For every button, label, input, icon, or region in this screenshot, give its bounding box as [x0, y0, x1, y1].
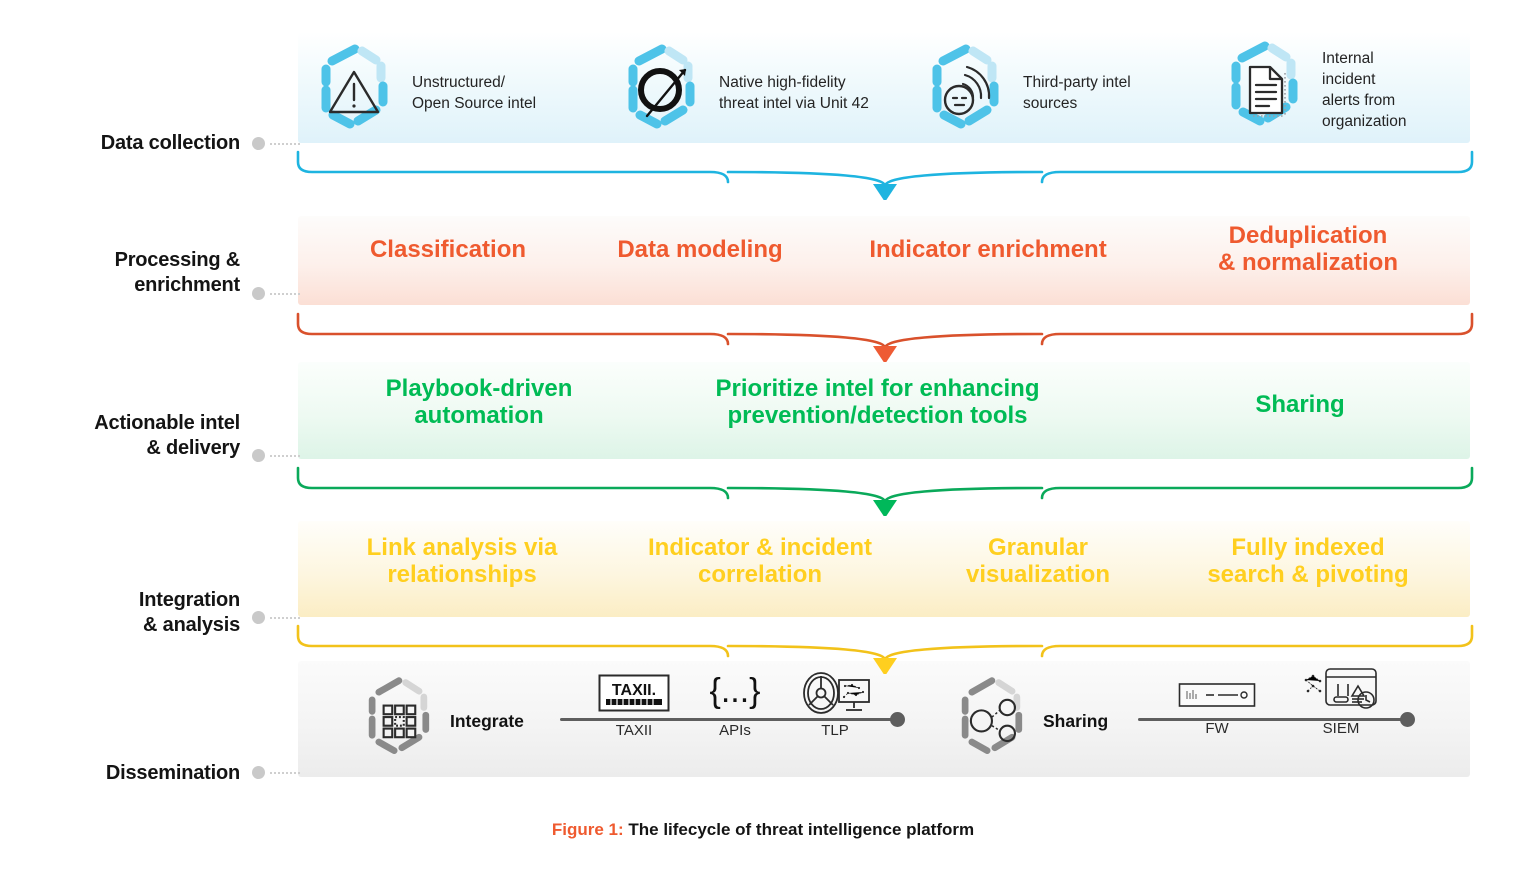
source-item-third-party[interactable]: Third-party intel sources: [917, 42, 1131, 143]
grid-hexagon-icon: [352, 673, 444, 770]
phrase-link-analysis: Link analysis via relationships: [322, 534, 602, 589]
stage-dot-integration: [252, 611, 265, 624]
rail-item-taxii[interactable]: TAXII. TAXII: [594, 674, 674, 717]
api-braces-icon: {...}: [697, 670, 773, 714]
svg-text:TAXII.: TAXII.: [612, 682, 656, 699]
rail-caption-taxii: TAXII: [594, 722, 674, 739]
rail-caption-tlp: TLP: [795, 722, 875, 739]
dissemination-group-integrate[interactable]: Integrate: [352, 673, 524, 770]
phrase-indicator-enrichment: Indicator enrichment: [838, 236, 1138, 263]
phrase-data-modeling: Data modeling: [584, 236, 816, 263]
connector-brace-orange: [290, 306, 1480, 362]
figure-caption-prefix: Figure 1:: [552, 820, 624, 839]
diagram-canvas: Data collection Processing & enrichment …: [0, 0, 1526, 872]
stage-label-data-collection: Data collection: [20, 131, 240, 156]
siem-icon: [1300, 666, 1382, 714]
dissemination-label-sharing: Sharing: [1043, 711, 1108, 732]
stage-label-dissemination: Dissemination: [20, 761, 240, 786]
phrase-granular-visualization: Granular visualization: [925, 534, 1151, 589]
source-item-unstructured[interactable]: Unstructured/ Open Source intel: [306, 42, 536, 143]
stage-connector-processing: [270, 293, 300, 295]
stage-label-actionable-intel: Actionable intel & delivery: [20, 411, 240, 461]
tlp-wheel-monitor-icon: [795, 670, 875, 716]
phrase-fully-indexed-search: Fully indexed search & pivoting: [1162, 534, 1454, 589]
connector-brace-blue: [290, 144, 1480, 200]
phrase-playbook-automation: Playbook-driven automation: [334, 375, 624, 430]
rail-item-fw[interactable]: FW: [1178, 682, 1256, 717]
phrase-sharing: Sharing: [1165, 391, 1435, 418]
rail-caption-fw: FW: [1178, 720, 1256, 737]
network-hexagon-icon: [945, 673, 1037, 770]
figure-caption: Figure 1: The lifecycle of threat intell…: [0, 820, 1526, 840]
rail-caption-siem: SIEM: [1300, 720, 1382, 737]
taxii-icon: TAXII.: [598, 674, 670, 712]
signal-face-icon: [917, 42, 1013, 143]
stage-connector-actionable-intel: [270, 455, 300, 457]
phrase-classification: Classification: [335, 236, 561, 263]
compass-needle-icon: [613, 42, 709, 143]
stage-connector-dissemination: [270, 772, 300, 774]
rail-item-siem[interactable]: SIEM: [1300, 666, 1382, 719]
phrase-prioritize-intel: Prioritize intel for enhancing preventio…: [650, 375, 1105, 430]
source-label-internal-alerts: Internal incident alerts from organizati…: [1322, 48, 1406, 132]
dissemination-group-sharing[interactable]: Sharing: [945, 673, 1108, 770]
stage-dot-actionable-intel: [252, 449, 265, 462]
stage-label-integration: Integration & analysis: [20, 588, 240, 638]
stage-dot-processing: [252, 287, 265, 300]
rail-item-apis[interactable]: {...} APIs: [697, 670, 773, 719]
svg-text:{...}: {...}: [709, 672, 760, 710]
rail-endpoint-sharing: [1400, 712, 1415, 727]
stage-dot-dissemination: [252, 766, 265, 779]
phrase-indicator-correlation: Indicator & incident correlation: [620, 534, 900, 589]
rail-caption-apis: APIs: [697, 722, 773, 739]
stage-dot-data-collection: [252, 137, 265, 150]
source-item-internal-alerts[interactable]: Internal incident alerts from organizati…: [1216, 32, 1406, 147]
warning-triangle-icon: [306, 42, 402, 143]
stage-label-processing: Processing & enrichment: [20, 248, 240, 298]
source-label-third-party: Third-party intel sources: [1023, 72, 1131, 114]
figure-caption-text: The lifecycle of threat intelligence pla…: [624, 820, 974, 839]
connector-brace-green: [290, 460, 1480, 516]
source-item-native-intel[interactable]: Native high-fidelity threat intel via Un…: [613, 42, 869, 143]
source-label-native-intel: Native high-fidelity threat intel via Un…: [719, 72, 869, 114]
rail-endpoint-integrate: [890, 712, 905, 727]
rail-item-tlp[interactable]: TLP: [795, 670, 875, 721]
source-label-unstructured: Unstructured/ Open Source intel: [412, 72, 536, 114]
document-alert-icon: [1216, 32, 1312, 147]
firewall-icon: [1178, 682, 1256, 712]
dissemination-label-integrate: Integrate: [450, 711, 524, 732]
phrase-deduplication: Deduplication & normalization: [1165, 222, 1451, 277]
